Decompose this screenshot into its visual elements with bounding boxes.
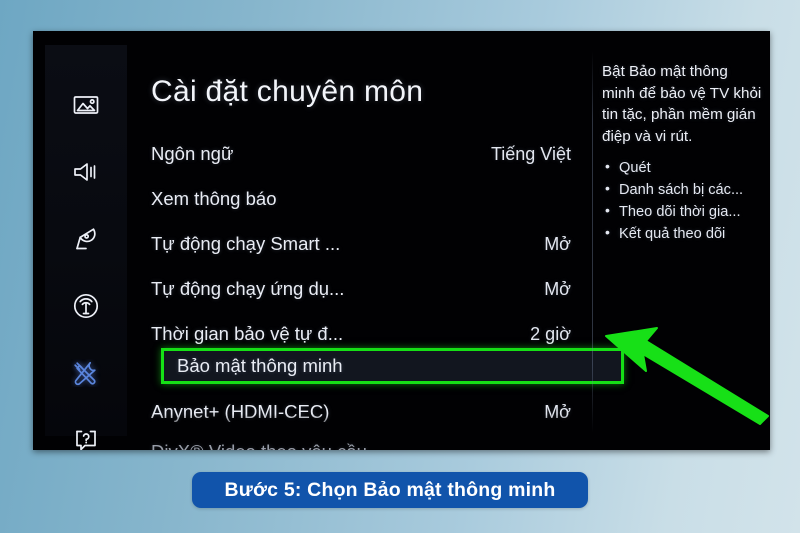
menu-row-value: Mở (544, 234, 571, 255)
network-antenna-icon (72, 292, 100, 320)
step-caption-text: Bước 5: Chọn Bảo mật thông minh (224, 479, 555, 502)
tv-screen: Cài đặt chuyên môn Ngôn ngữ Tiếng Việt X… (33, 31, 770, 450)
menu-row-autorun-smart[interactable]: Tự động chạy Smart ... Mở (151, 225, 592, 263)
help-feature-list: Quét Danh sách bị các... Theo dõi thời g… (602, 157, 762, 246)
expert-settings-menu: Cài đặt chuyên môn Ngôn ngữ Tiếng Việt X… (151, 45, 592, 436)
list-item: Theo dõi thời gia... (602, 201, 762, 223)
sidebar-item-network[interactable] (45, 286, 127, 326)
sidebar-item-broadcast[interactable] (45, 219, 127, 259)
list-item: Kết quả theo dõi (602, 223, 762, 245)
tv-screen-inner: Cài đặt chuyên môn Ngôn ngữ Tiếng Việt X… (33, 31, 770, 450)
sidebar-item-general[interactable] (45, 353, 127, 393)
menu-row-label: Tự động chạy ứng dụ... (151, 278, 344, 300)
menu-row-value: Mở (544, 402, 571, 423)
broadcast-dish-icon (72, 226, 100, 252)
sidebar-item-picture[interactable] (45, 85, 127, 125)
list-item: Danh sách bị các... (602, 179, 762, 201)
panel-divider (592, 51, 593, 433)
tools-icon (71, 359, 101, 387)
picture-icon (72, 93, 100, 117)
menu-row-label: DivX® Video theo yêu cầu (151, 441, 367, 450)
menu-row-label: Anynet+ (HDMI-CEC) (151, 401, 329, 423)
menu-row-value: 2 giờ (530, 324, 571, 345)
menu-row-label: Thời gian bảo vệ tự đ... (151, 323, 343, 345)
sidebar-item-sound[interactable] (45, 152, 127, 192)
step-caption-pill: Bước 5: Chọn Bảo mật thông minh (192, 472, 588, 508)
menu-row-view-notifications[interactable]: Xem thông báo (151, 180, 592, 218)
list-item: Quét (602, 157, 762, 179)
menu-row-divx-vod[interactable]: DivX® Video theo yêu cầu (151, 433, 592, 450)
menu-row-value: Mở (544, 279, 571, 300)
help-description: Bật Bảo mật thông minh để bảo vệ TV khỏi… (602, 61, 762, 148)
support-question-icon (72, 427, 100, 450)
help-panel: Bật Bảo mật thông minh để bảo vệ TV khỏi… (602, 61, 762, 246)
menu-row-language[interactable]: Ngôn ngữ Tiếng Việt (151, 135, 592, 173)
menu-row-smart-security[interactable]: Bảo mật thông minh (161, 348, 624, 384)
sound-icon (71, 160, 101, 184)
menu-row-label: Bảo mật thông minh (164, 355, 343, 377)
menu-row-value: Tiếng Việt (491, 144, 571, 165)
page-title: Cài đặt chuyên môn (151, 75, 423, 109)
settings-sidebar (45, 45, 127, 436)
menu-row-autorun-app[interactable]: Tự động chạy ứng dụ... Mở (151, 270, 592, 308)
menu-row-label: Tự động chạy Smart ... (151, 233, 340, 255)
menu-row-anynet[interactable]: Anynet+ (HDMI-CEC) Mở (151, 393, 592, 431)
menu-row-label: Ngôn ngữ (151, 143, 233, 165)
sidebar-item-support[interactable] (45, 420, 127, 450)
menu-row-label: Xem thông báo (151, 188, 276, 210)
